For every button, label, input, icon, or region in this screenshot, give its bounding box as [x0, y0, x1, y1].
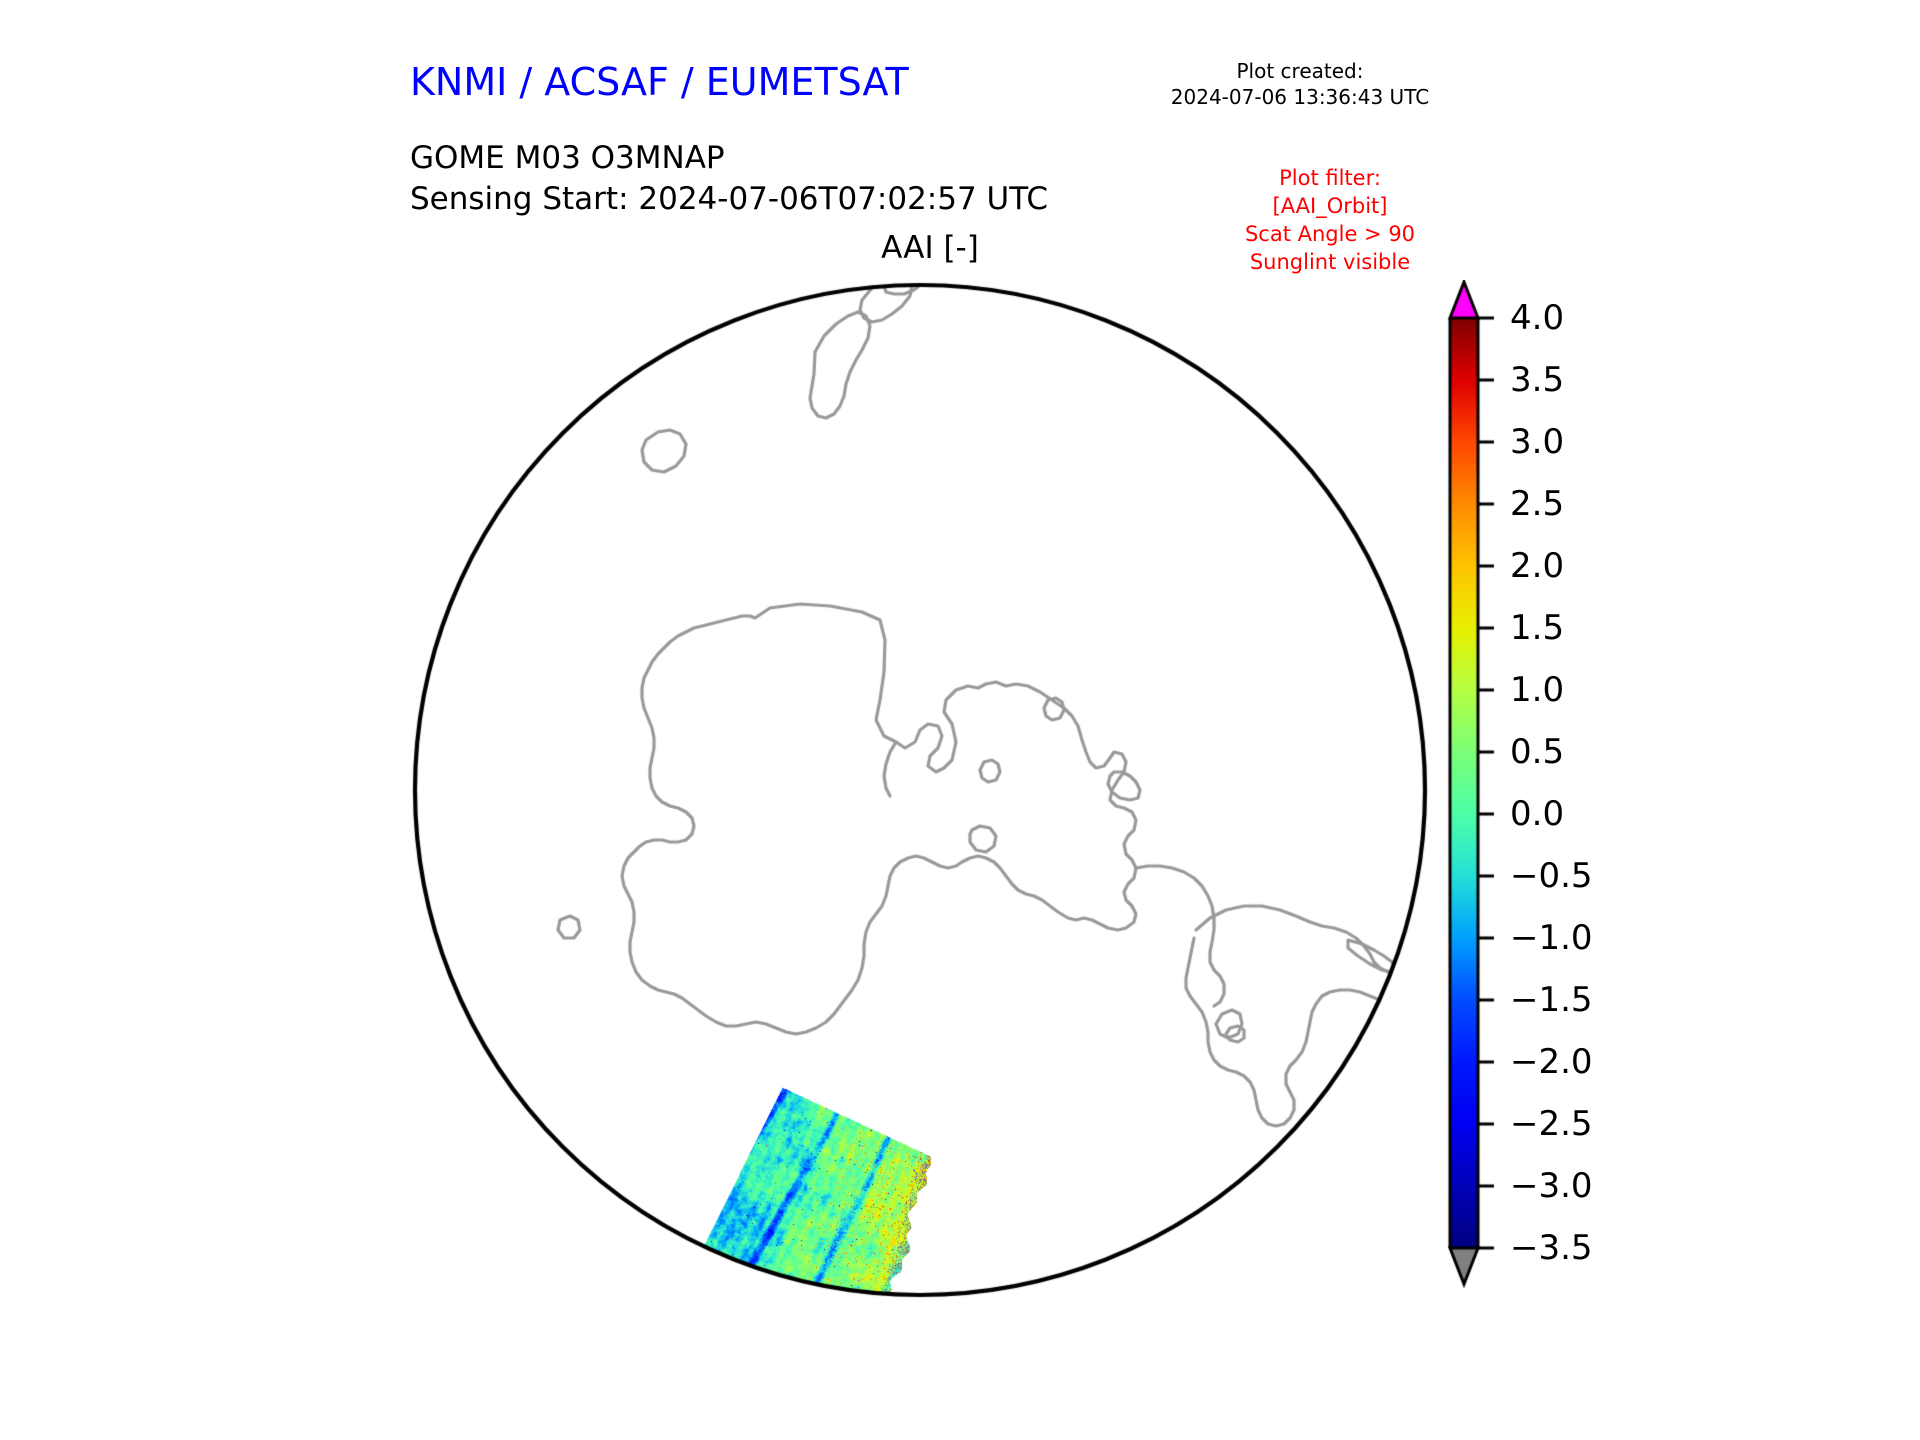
- colorbar-tick-3: 2.5: [1510, 484, 1564, 524]
- colorbar-tick-5: 1.5: [1510, 608, 1564, 648]
- colorbar-tick-1: 3.5: [1510, 360, 1564, 400]
- colorbar-tick-9: −0.5: [1510, 856, 1593, 896]
- variable-title: AAI [-]: [0, 230, 1860, 266]
- colorbar-tick-14: −3.0: [1510, 1166, 1593, 1206]
- colorbar-tick-12: −2.0: [1510, 1042, 1593, 1082]
- colorbar-tick-0: 4.0: [1510, 298, 1564, 338]
- colorbar-tick-10: −1.0: [1510, 918, 1593, 958]
- colorbar-tick-13: −2.5: [1510, 1104, 1593, 1144]
- plot-filter-note: Sunglint visible: [1190, 249, 1470, 277]
- plot-filter-block: Plot filter: [AAI_Orbit] Scat Angle > 90…: [1190, 165, 1470, 277]
- plot-created-time: 2024-07-06 13:36:43 UTC: [1140, 84, 1460, 110]
- colorbar-tick-11: −1.5: [1510, 980, 1593, 1020]
- plot-filter-product: [AAI_Orbit]: [1190, 193, 1470, 221]
- sensing-start-title: Sensing Start: 2024-07-06T07:02:57 UTC: [410, 179, 1048, 220]
- colorbar-tick-7: 0.5: [1510, 732, 1564, 772]
- colorbar-tick-6: 1.0: [1510, 670, 1564, 710]
- colorbar-tick-15: −3.5: [1510, 1228, 1593, 1268]
- plot-created-label: Plot created:: [1140, 58, 1460, 84]
- colorbar-tick-4: 2.0: [1510, 546, 1564, 586]
- plot-filter-condition: Scat Angle > 90: [1190, 221, 1470, 249]
- plot-page: KNMI / ACSAF / EUMETSAT Plot created: 20…: [0, 0, 1920, 1440]
- plot-filter-heading: Plot filter:: [1190, 165, 1470, 193]
- colorbar-tick-labels: 4.03.53.02.52.01.51.00.50.0−0.5−1.0−1.5−…: [1510, 280, 1670, 1290]
- colorbar-tick-2: 3.0: [1510, 422, 1564, 462]
- title-block: GOME M03 O3MNAP Sensing Start: 2024-07-0…: [410, 138, 1048, 220]
- provider-header: KNMI / ACSAF / EUMETSAT: [410, 60, 909, 104]
- plot-created-block: Plot created: 2024-07-06 13:36:43 UTC: [1140, 58, 1460, 110]
- colorbar-tick-8: 0.0: [1510, 794, 1564, 834]
- instrument-title: GOME M03 O3MNAP: [410, 138, 1048, 179]
